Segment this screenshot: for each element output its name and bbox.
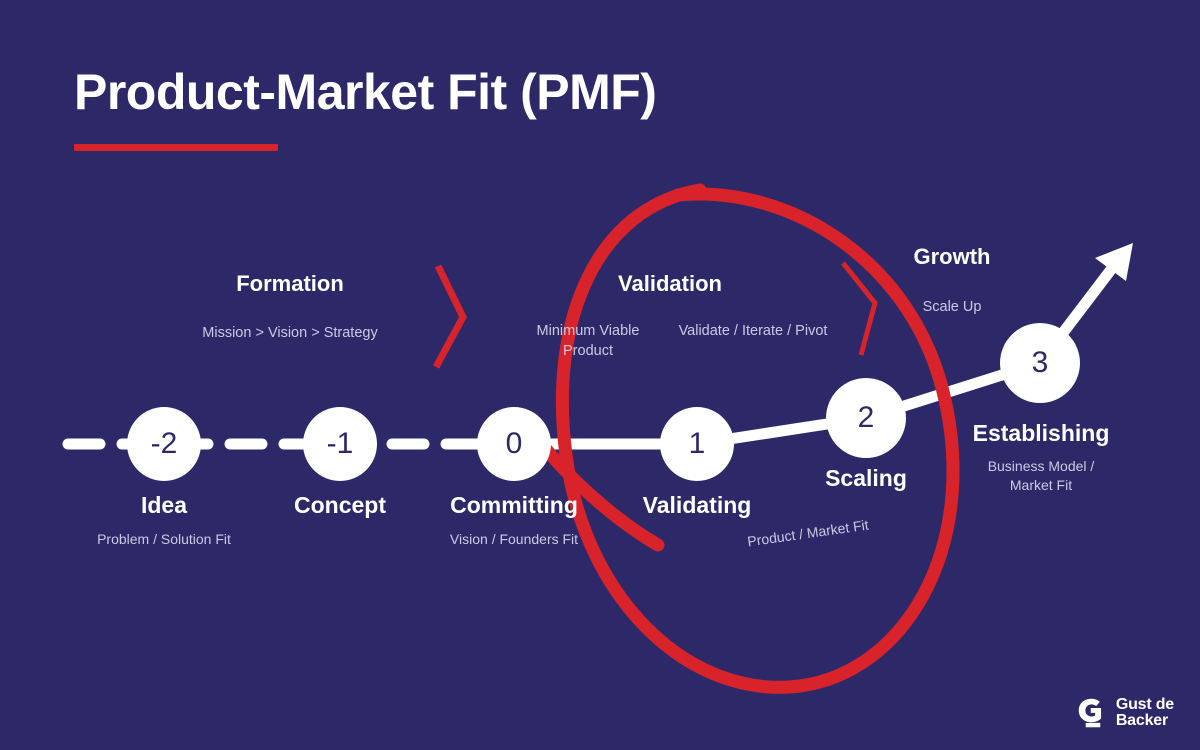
phase-label-formation: Formation <box>236 271 344 297</box>
node-number: 0 <box>506 429 523 459</box>
phase-subtitle-formation: Mission > Vision > Strategy <box>140 323 440 343</box>
node-number: 3 <box>1032 348 1049 378</box>
stage-label-idea: Idea <box>141 492 187 519</box>
red-ellipse-tail <box>536 437 658 545</box>
stage-subtitle-committing: Vision / Founders Fit <box>399 530 629 549</box>
phase-subtitle-validation-mvp: Minimum Viable Product <box>518 321 658 362</box>
node-number: -1 <box>327 429 354 459</box>
phase-subtitle-growth: Scale Up <box>872 297 1032 317</box>
timeline-node-validating[interactable]: 1 <box>660 407 734 481</box>
g-logomark-icon <box>1074 696 1108 730</box>
stage-label-committing: Committing <box>450 492 578 519</box>
timeline-solid-segment <box>512 363 1040 444</box>
stage-subtitle-establishing: Business Model / Market Fit <box>966 457 1116 495</box>
red-chevron-icon-1 <box>436 266 463 367</box>
timeline-node-committing[interactable]: 0 <box>477 407 551 481</box>
node-number: -2 <box>151 429 178 459</box>
stage-label-establishing: Establishing <box>973 420 1110 447</box>
timeline-node-idea[interactable]: -2 <box>127 407 201 481</box>
logo-line-1: Gust de <box>1116 697 1174 713</box>
stage-label-scaling: Scaling <box>825 465 907 492</box>
stage-label-concept: Concept <box>294 492 386 519</box>
timeline-node-establishing[interactable]: 3 <box>1000 323 1080 403</box>
red-chevron-icon-2 <box>843 263 875 355</box>
node-number: 2 <box>858 403 875 433</box>
phase-label-growth: Growth <box>914 244 991 270</box>
brand-logo: Gust de Backer <box>1074 696 1174 730</box>
phase-label-validation: Validation <box>618 271 722 297</box>
phase-subtitle-validation-iterate: Validate / Iterate / Pivot <box>678 321 828 341</box>
logo-line-2: Backer <box>1116 713 1174 729</box>
node-number: 1 <box>689 429 706 459</box>
stage-subtitle-idea: Problem / Solution Fit <box>49 530 279 549</box>
stage-label-validating: Validating <box>643 492 752 519</box>
timeline-node-scaling[interactable]: 2 <box>826 378 906 458</box>
slide-canvas: Product-Market Fit (PMF) -2 -1 0 1 2 <box>0 0 1200 750</box>
timeline-node-concept[interactable]: -1 <box>303 407 377 481</box>
